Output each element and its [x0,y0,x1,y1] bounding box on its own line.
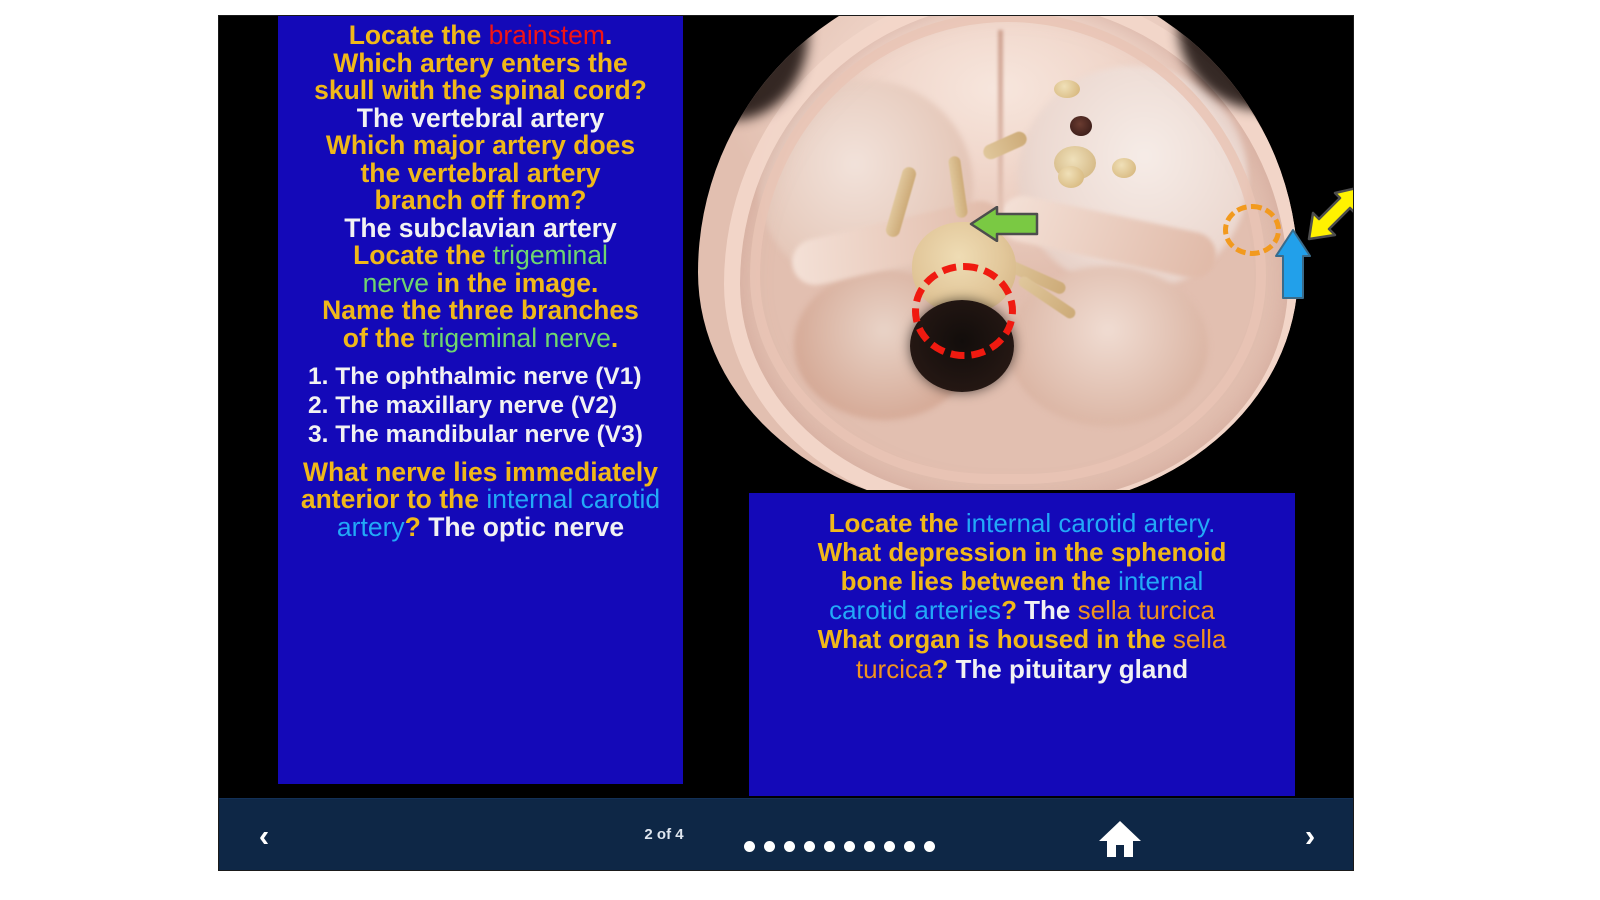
optic-yellow-arrow-icon [1305,181,1353,243]
text-segment: What nerve lies immediately [303,457,658,487]
list-item: 1. The ophthalmic nerve (V1) [282,362,679,391]
slide-dot[interactable] [844,841,855,852]
text-segment: branch off from? [375,185,587,215]
text-segment: the vertebral artery [360,158,600,188]
slide-dot[interactable] [824,841,835,852]
text-line: carotid arteries? The sella turcica [753,596,1291,625]
text-segment: . [611,323,618,353]
text-segment: . [605,20,612,50]
text-segment: Which artery enters the [333,48,628,78]
list-item: 2. The maxillary nerve (V2) [282,391,679,420]
text-segment: The [1024,595,1077,625]
text-segment: ? [405,512,429,542]
text-line: Locate the brainstem. [282,22,679,50]
anatomy-photo [690,16,1305,490]
text-line: Locate the trigeminal [282,242,679,270]
text-line: artery? The optic nerve [282,514,679,542]
text-line: the vertebral artery [282,160,679,188]
slide-dot[interactable] [744,841,755,852]
text-segment: . [1208,508,1215,538]
text-segment: bone lies between the [841,566,1118,596]
text-segment: internal carotid artery [966,508,1208,538]
trigeminal-branch-list: 1. The ophthalmic nerve (V1)2. The maxil… [282,362,679,450]
slide-dot[interactable] [784,841,795,852]
text-segment: carotid arteries [829,595,1001,625]
text-segment: skull with the spinal cord? [314,75,647,105]
text-segment: The pituitary gland [956,654,1189,684]
slide-dot[interactable] [904,841,915,852]
text-segment: ? [1001,595,1024,625]
slide-dot[interactable] [804,841,815,852]
text-segment: sella turcica [1078,595,1215,625]
sella-turcica-marker-icon [1223,204,1281,256]
right-panel-lines: Locate the internal carotid artery.What … [753,509,1291,684]
text-segment: trigeminal [493,240,608,270]
carotid-blue-arrow-icon [1275,228,1311,300]
text-segment: brainstem [489,20,605,50]
text-segment: Which major artery does [326,130,635,160]
text-segment: of the [343,323,423,353]
text-line: Which major artery does [282,132,679,160]
text-segment: nerve [363,268,429,298]
text-segment: internal [1118,566,1203,596]
text-line: Locate the internal carotid artery. [753,509,1291,538]
left-question-panel: Locate the brainstem.Which artery enters… [278,16,683,784]
text-segment: Locate the [353,240,493,270]
left-panel-lines: Locate the brainstem.Which artery enters… [282,22,679,353]
slide-dot-indicators[interactable] [674,836,1004,856]
text-segment: ? [932,654,955,684]
text-line: skull with the spinal cord? [282,77,679,105]
trigeminal-green-arrow-icon [967,206,1039,242]
text-segment: internal carotid [486,484,660,514]
text-segment: The subclavian artery [344,213,616,243]
next-slide-button[interactable]: › [1287,817,1333,855]
text-line: turcica? The pituitary gland [753,655,1291,684]
text-segment: in the image. [429,268,598,298]
screenshot-root: Locate the brainstem.Which artery enters… [0,0,1600,900]
text-segment: turcica [856,654,933,684]
text-line: nerve in the image. [282,270,679,298]
right-question-panel: Locate the internal carotid artery.What … [749,493,1295,796]
previous-slide-button[interactable]: ‹ [241,817,287,855]
text-line: What nerve lies immediately [282,459,679,487]
text-segment: sella [1173,624,1226,654]
home-icon [1097,819,1143,859]
text-segment: What organ is housed in the [818,624,1173,654]
text-segment: The vertebral artery [357,103,604,133]
text-segment: Locate the [829,508,966,538]
text-line: What depression in the sphenoid [753,538,1291,567]
text-segment: trigeminal nerve [422,323,611,353]
slide-dot[interactable] [764,841,775,852]
text-segment: Locate the [349,20,489,50]
text-line: anterior to the internal carotid [282,486,679,514]
text-segment: What depression in the sphenoid [818,537,1227,567]
text-segment: artery [337,512,405,542]
home-button[interactable] [1097,819,1143,859]
text-segment: The optic nerve [428,512,624,542]
text-line: Which artery enters the [282,50,679,78]
text-line: What organ is housed in the sella [753,625,1291,654]
left-panel-closing-lines: What nerve lies immediatelyanterior to t… [282,459,679,542]
text-segment: anterior to the [301,484,487,514]
text-line: Name the three branches [282,297,679,325]
text-line: The subclavian artery [282,215,679,243]
text-segment: Name the three branches [322,295,639,325]
text-line: of the trigeminal nerve. [282,325,679,353]
slide-frame: Locate the brainstem.Which artery enters… [219,16,1353,870]
slide-navigation-bar: ‹ 2 of 4 › [219,798,1353,870]
slide-dot[interactable] [924,841,935,852]
text-line: bone lies between the internal [753,567,1291,596]
list-item: 3. The mandibular nerve (V3) [282,420,679,449]
text-line: branch off from? [282,187,679,215]
text-line: The vertebral artery [282,105,679,133]
slide-dot[interactable] [884,841,895,852]
slide-dot[interactable] [864,841,875,852]
brainstem-marker-icon [912,263,1016,359]
